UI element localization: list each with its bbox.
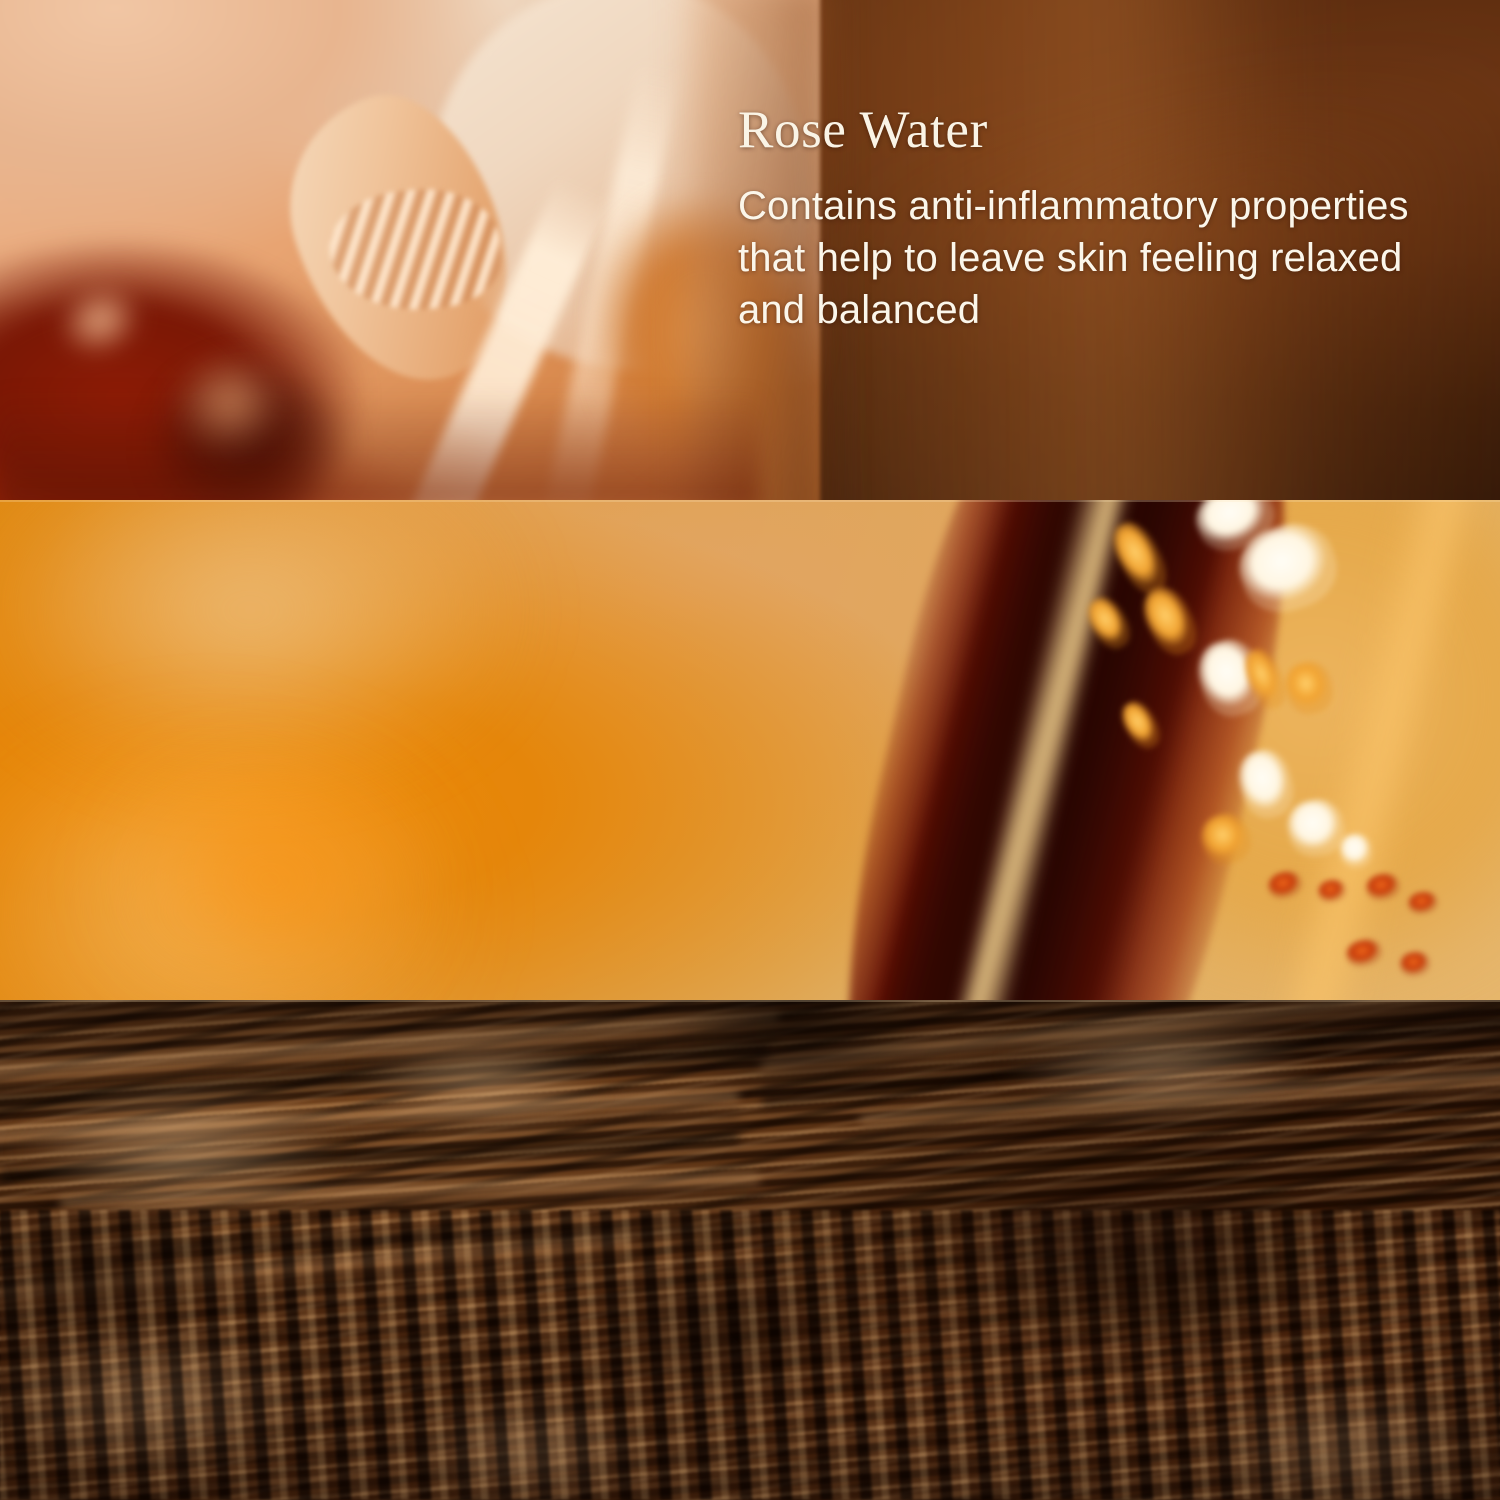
rose-water-title: Rose Water [738,104,1438,157]
rose-water-copy-block: Rose Water Contains anti-inflammatory pr… [738,104,1438,337]
willow-bark-photo [0,1000,1500,1500]
panel-divider-2 [0,1000,1500,1002]
panel-divider-1 [0,500,1500,502]
panel-colloidal-gold: Colloidal Gold Contains anti-inflammator… [0,500,1500,1000]
rose-water-description: Contains anti-inflammatory properties th… [738,180,1428,337]
panel-willow-bark-extract: Willow Bark Extract A natural, gentle ex… [0,1000,1500,1500]
panel-rose-water: Rose Water Contains anti-inflammatory pr… [0,0,1500,500]
colloidal-gold-photo [0,500,1500,1000]
ingredient-benefits-infographic: Rose Water Contains anti-inflammatory pr… [0,0,1500,1500]
